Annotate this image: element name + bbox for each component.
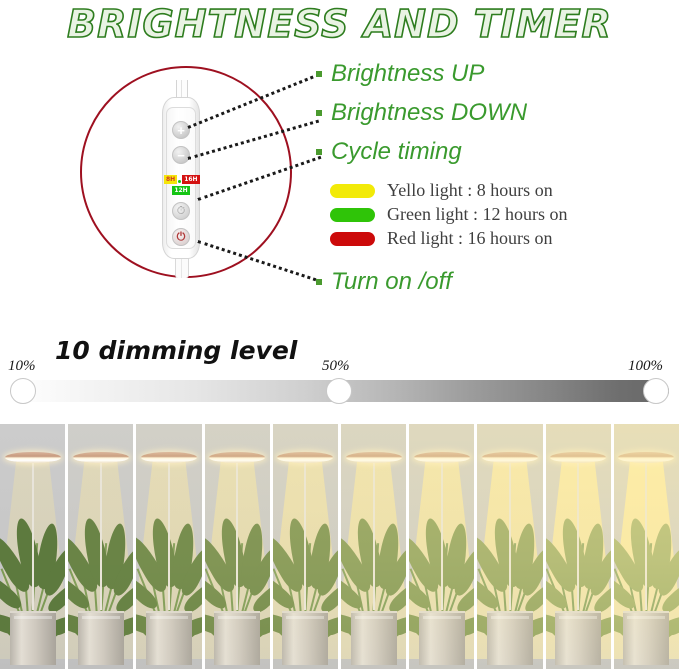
brightness-panel: [546, 424, 611, 669]
page-title-container: BRIGHTNESS AND TIMER: [0, 2, 679, 46]
light-pole: [100, 460, 102, 610]
bullet-square-icon: [316, 149, 322, 155]
ring-grow-light: [346, 452, 402, 463]
slider-handle-10[interactable]: [10, 378, 36, 404]
plant-pot: [487, 611, 533, 665]
callout-label: Brightness UP: [331, 60, 484, 88]
plant-pot: [351, 611, 397, 665]
callout-label: Turn on /off: [331, 268, 452, 296]
ring-grow-light: [482, 452, 538, 463]
light-pole: [304, 460, 306, 610]
bullet-square-icon: [316, 279, 322, 285]
ring-grow-light: [5, 452, 61, 463]
ring-grow-light: [277, 452, 333, 463]
slider-handle-50[interactable]: [326, 378, 352, 404]
brightness-panel: [614, 424, 679, 669]
callout-list: Brightness UP Brightness DOWN Cycle timi…: [316, 60, 676, 177]
brightness-panel: [68, 424, 133, 669]
green-light-swatch: [330, 208, 375, 222]
plus-icon: +: [177, 124, 185, 137]
dimming-min-label: 10%: [8, 358, 36, 375]
callout-turn-on-off: Turn on /off: [316, 268, 452, 296]
brightness-panel: [341, 424, 406, 669]
legend-row-red: Red light : 16 hours on: [330, 228, 679, 249]
ring-grow-light: [414, 452, 470, 463]
plant-pot: [10, 611, 56, 665]
light-pole: [645, 460, 647, 610]
dimming-max-label: 100%: [628, 358, 663, 375]
light-pole: [168, 460, 170, 610]
brightness-panel: [273, 424, 338, 669]
timer-badge-row-bottom: 12H: [163, 184, 199, 195]
infographic-page: BRIGHTNESS AND TIMER + − 8H16H 12H ⏱ ⏻: [0, 0, 679, 669]
light-pole: [32, 460, 34, 610]
callout-brightness-down: Brightness DOWN: [316, 99, 676, 127]
brightness-panel: [136, 424, 201, 669]
badge-dot-icon: [178, 180, 181, 183]
dimming-slider[interactable]: [10, 378, 669, 404]
brightness-panel: [477, 424, 542, 669]
cycle-timing-button[interactable]: ⏱: [172, 202, 190, 220]
plant-pot: [555, 611, 601, 665]
timer-badge-row-top: 8H16H: [163, 175, 199, 184]
legend-label: Red light : 16 hours on: [387, 228, 553, 249]
plant-pot: [282, 611, 328, 665]
callout-label: Brightness DOWN: [331, 99, 527, 127]
brightness-panel: [0, 424, 65, 669]
ring-grow-light: [618, 452, 674, 463]
brightness-photo-strip: [0, 424, 679, 669]
badge-8h: 8H: [164, 175, 177, 184]
controller-illustration: + − 8H16H 12H ⏱ ⏻: [159, 80, 203, 276]
light-pole: [441, 460, 443, 610]
dimming-mid-label: 50%: [322, 358, 350, 375]
callout-brightness-up: Brightness UP: [316, 60, 676, 88]
callout-cycle-timing: Cycle timing: [316, 138, 676, 166]
bullet-square-icon: [316, 110, 322, 116]
badge-12h: 12H: [172, 186, 189, 195]
ring-grow-light: [73, 452, 129, 463]
ring-grow-light: [209, 452, 265, 463]
light-pole: [236, 460, 238, 610]
clock-icon: ⏱: [177, 205, 186, 218]
legend-row-green: Green light : 12 hours on: [330, 204, 679, 225]
brightness-down-button[interactable]: −: [172, 146, 190, 164]
ring-grow-light: [141, 452, 197, 463]
legend-label: Green light : 12 hours on: [387, 204, 567, 225]
plant-pot: [623, 611, 669, 665]
legend-label: Yello light : 8 hours on: [387, 180, 553, 201]
red-light-swatch: [330, 232, 375, 246]
legend-row-yellow: Yello light : 8 hours on: [330, 180, 679, 201]
brightness-panel: [409, 424, 474, 669]
minus-icon: −: [177, 148, 185, 163]
page-title: BRIGHTNESS AND TIMER: [67, 2, 612, 46]
brightness-up-button[interactable]: +: [172, 121, 190, 139]
light-pole: [577, 460, 579, 610]
dimming-title: 10 dimming level: [55, 336, 297, 365]
bullet-square-icon: [316, 71, 322, 77]
yellow-light-swatch: [330, 184, 375, 198]
badge-16h: 16H: [182, 175, 199, 184]
slider-handle-100[interactable]: [643, 378, 669, 404]
brightness-panel: [205, 424, 270, 669]
timer-badges: 8H16H 12H: [163, 175, 199, 195]
power-button[interactable]: ⏻: [172, 228, 190, 246]
plant-pot: [419, 611, 465, 665]
plant-pot: [78, 611, 124, 665]
light-pole: [373, 460, 375, 610]
light-pole: [509, 460, 511, 610]
ring-grow-light: [550, 452, 606, 463]
callout-label: Cycle timing: [331, 138, 462, 166]
power-icon: ⏻: [177, 231, 186, 244]
plant-pot: [146, 611, 192, 665]
plant-pot: [214, 611, 260, 665]
cord-bottom: [175, 256, 189, 278]
timer-legend: Yello light : 8 hours on Green light : 1…: [330, 180, 679, 252]
